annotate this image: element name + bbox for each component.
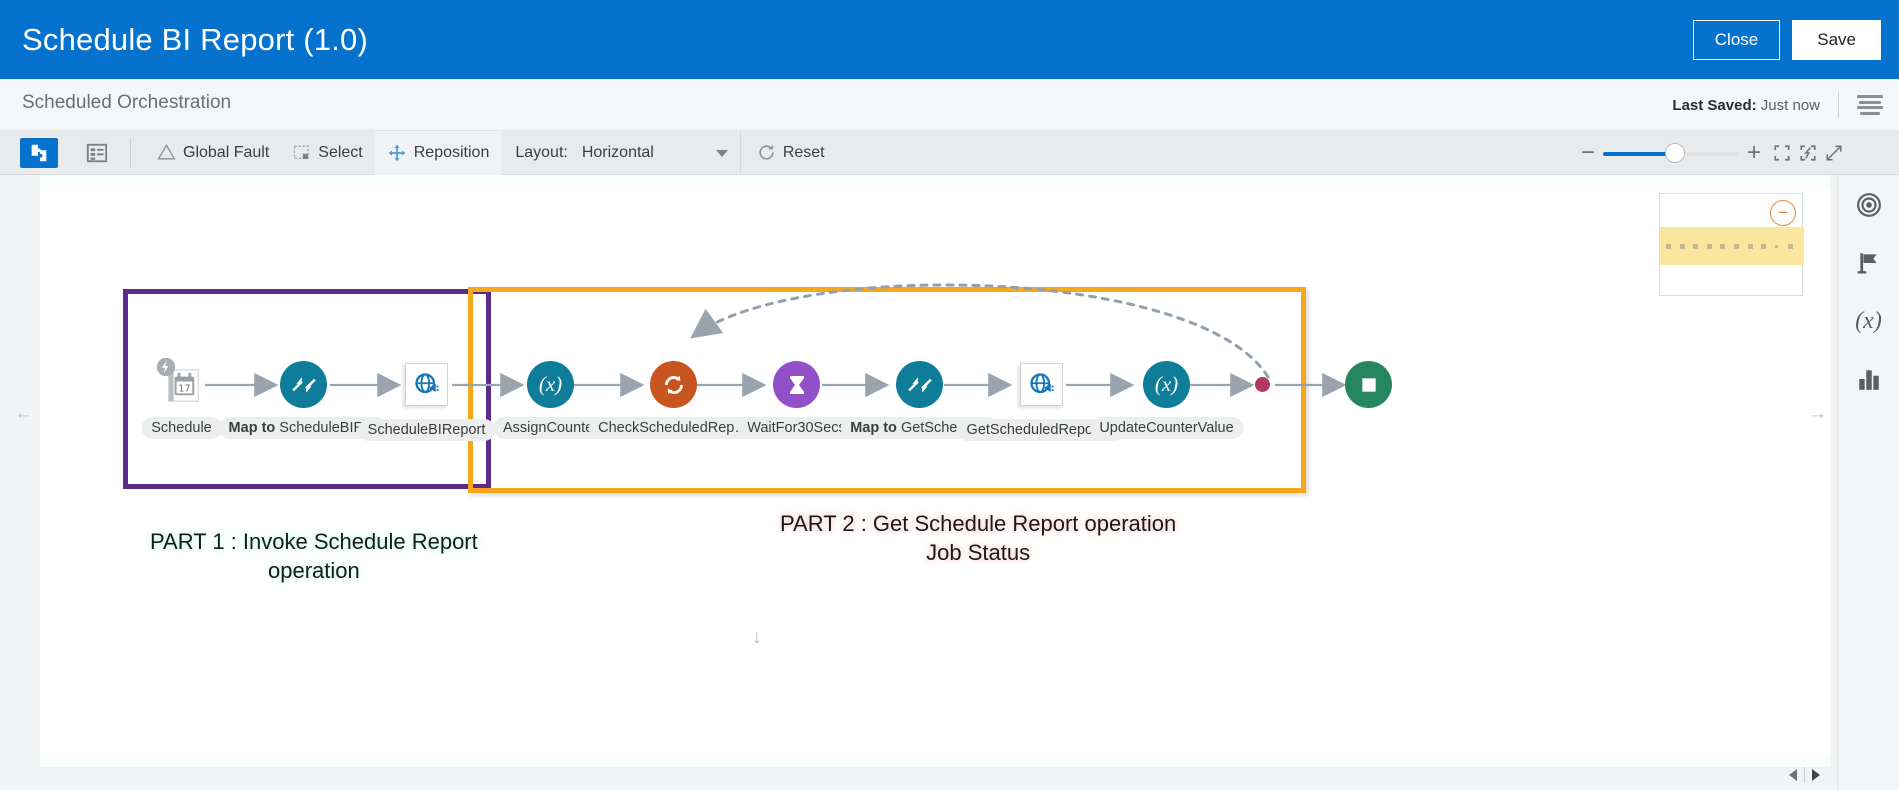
expand-diagonal-icon[interactable] xyxy=(1821,131,1847,175)
triangle-left-icon[interactable] xyxy=(1782,764,1804,786)
puzzle-flow-icon xyxy=(28,142,50,164)
adapter-globe-icon xyxy=(1028,371,1056,399)
node-shape[interactable]: (x) xyxy=(527,361,574,408)
loop-return-dot-icon[interactable] xyxy=(1255,377,1270,392)
select-button[interactable]: Select xyxy=(281,131,374,175)
while-loop-icon xyxy=(661,372,687,398)
toolbar-divider-2 xyxy=(740,131,741,175)
minimap-node-dot xyxy=(1720,244,1725,249)
node-label: Schedule xyxy=(141,417,221,439)
reposition-label: Reposition xyxy=(414,144,490,162)
minimap-node-dot xyxy=(1775,245,1778,248)
sub-header-right: Last Saved: Just now xyxy=(1672,79,1883,131)
target-bullseye-icon[interactable] xyxy=(1849,185,1889,225)
node-schedule[interactable]: 17 Schedule xyxy=(158,361,205,408)
hourglass-wait-icon xyxy=(785,373,809,397)
node-label: UpdateCounterValue xyxy=(1089,417,1243,439)
node-shape[interactable] xyxy=(773,361,820,408)
list-view-button[interactable] xyxy=(78,138,116,168)
horizontal-scroll-buttons xyxy=(1782,764,1827,786)
bar-chart-icon[interactable] xyxy=(1849,359,1889,399)
scroll-left-arrow-icon[interactable]: ← xyxy=(14,403,33,425)
minus-circle-icon[interactable]: − xyxy=(1770,200,1796,226)
node-label: CheckScheduledRep… xyxy=(588,417,759,439)
node-shape[interactable] xyxy=(1020,363,1063,406)
last-saved-value: Just now xyxy=(1761,97,1820,114)
canvas-pane: 17 Schedule xyxy=(40,175,1830,767)
minimap-nodes xyxy=(1666,244,1802,249)
reset-label: Reset xyxy=(783,144,825,162)
canvas-surface[interactable]: 17 Schedule xyxy=(40,187,1830,755)
save-button[interactable]: Save xyxy=(1792,20,1881,60)
lightning-bolt-badge-icon xyxy=(156,357,176,377)
reposition-button[interactable]: Reposition xyxy=(375,131,502,175)
adapter-globe-icon xyxy=(413,371,441,399)
hamburger-menu-icon[interactable] xyxy=(1857,95,1883,115)
variable-x-icon: (x) xyxy=(539,372,562,397)
node-getscheduledreport[interactable]: GetScheduledReport… xyxy=(1020,363,1063,406)
stop-end-icon xyxy=(1359,375,1379,395)
scroll-down-arrow-icon[interactable]: ↓ xyxy=(752,627,762,649)
node-label: WaitFor30Secs xyxy=(737,417,856,439)
minimap-node-dot xyxy=(1680,244,1685,249)
node-schedulebireport[interactable]: ScheduleBIReport xyxy=(405,363,448,406)
minus-icon[interactable]: − xyxy=(1573,131,1603,175)
node-shape[interactable] xyxy=(280,361,327,408)
mapper-icon xyxy=(907,372,933,398)
layout-value: Horizontal xyxy=(582,144,654,162)
fit-to-screen-icon[interactable] xyxy=(1769,131,1795,175)
node-map-schedulebir[interactable]: Map to ScheduleBIR… xyxy=(280,361,327,408)
page-title: Schedule BI Report (1.0) xyxy=(22,22,368,58)
node-shape[interactable]: (x) xyxy=(1143,361,1190,408)
reset-zoom-icon[interactable] xyxy=(1795,131,1821,175)
select-label: Select xyxy=(318,144,362,162)
node-shape[interactable] xyxy=(1345,361,1392,408)
orchestration-flow: 17 Schedule xyxy=(40,187,1830,767)
zoom-controls: − + xyxy=(1573,131,1847,175)
global-fault-label: Global Fault xyxy=(183,144,269,162)
last-saved-label: Last Saved: xyxy=(1672,97,1756,114)
minimap-node-dot xyxy=(1693,244,1698,249)
toolbar-divider xyxy=(130,138,131,168)
mapper-icon xyxy=(291,372,317,398)
node-shape[interactable] xyxy=(405,363,448,406)
node-map-getschedule[interactable]: Map to GetSchedule. xyxy=(896,361,943,408)
right-tool-rail: (x) xyxy=(1837,175,1899,790)
orchestration-type-label: Scheduled Orchestration xyxy=(22,92,231,114)
plus-icon[interactable]: + xyxy=(1739,131,1769,175)
node-shape[interactable] xyxy=(650,361,697,408)
minimap[interactable]: − xyxy=(1659,193,1803,296)
zoom-slider[interactable] xyxy=(1603,131,1739,175)
minimap-node-dot xyxy=(1666,244,1671,249)
canvas-toolbar: Global Fault Select Reposition Layout: H… xyxy=(0,131,1899,175)
sub-header: Scheduled Orchestration Last Saved: Just… xyxy=(0,79,1899,131)
divider xyxy=(1838,92,1839,118)
minimap-node-dot xyxy=(1734,244,1739,249)
warning-triangle-icon xyxy=(157,143,176,162)
list-view-icon xyxy=(86,142,108,164)
layout-label: Layout: xyxy=(515,144,567,162)
flag-icon[interactable] xyxy=(1849,243,1889,283)
move-cross-icon xyxy=(387,143,407,163)
chevron-down-icon xyxy=(716,150,728,157)
annotation-part1: PART 1 : Invoke Schedule Report operatio… xyxy=(150,527,478,585)
layout-select[interactable]: Horizontal xyxy=(582,131,734,175)
title-actions: Close Save xyxy=(1693,0,1881,79)
title-bar: Schedule BI Report (1.0) Close Save xyxy=(0,0,1899,79)
triangle-right-icon[interactable] xyxy=(1805,764,1827,786)
variable-x-icon: (x) xyxy=(1155,372,1178,397)
node-end[interactable] xyxy=(1345,361,1392,408)
svg-text:17: 17 xyxy=(178,383,190,394)
annotation-part2: PART 2 : Get Schedule Report operation J… xyxy=(780,509,1176,567)
node-assigncounter[interactable]: (x) AssignCounter xyxy=(527,361,574,408)
minimap-node-dot xyxy=(1748,244,1753,249)
minimap-node-dot xyxy=(1788,244,1793,249)
minimap-node-dot xyxy=(1707,244,1712,249)
node-label: ScheduleBIReport xyxy=(358,419,496,441)
node-shape[interactable] xyxy=(896,361,943,408)
close-button[interactable]: Close xyxy=(1693,20,1780,60)
flow-view-button[interactable] xyxy=(20,138,58,168)
reset-button[interactable]: Reset xyxy=(745,131,837,175)
global-fault-button[interactable]: Global Fault xyxy=(145,131,281,175)
marquee-select-icon xyxy=(293,144,311,162)
refresh-icon xyxy=(757,143,776,162)
node-waitfor30secs[interactable]: WaitFor30Secs xyxy=(773,361,820,408)
node-updatecountervalue[interactable]: (x) UpdateCounterValue xyxy=(1143,361,1190,408)
node-checkscheduledrep[interactable]: CheckScheduledRep… xyxy=(650,361,697,408)
diagram-canvas[interactable]: 17 Schedule xyxy=(0,175,1899,790)
variable-x-icon[interactable]: (x) xyxy=(1849,301,1889,341)
minimap-node-dot xyxy=(1761,244,1766,249)
scroll-right-arrow-icon[interactable]: → xyxy=(1808,403,1827,425)
last-saved-status: Last Saved: Just now xyxy=(1672,97,1820,114)
zoom-slider-knob[interactable] xyxy=(1665,143,1685,163)
